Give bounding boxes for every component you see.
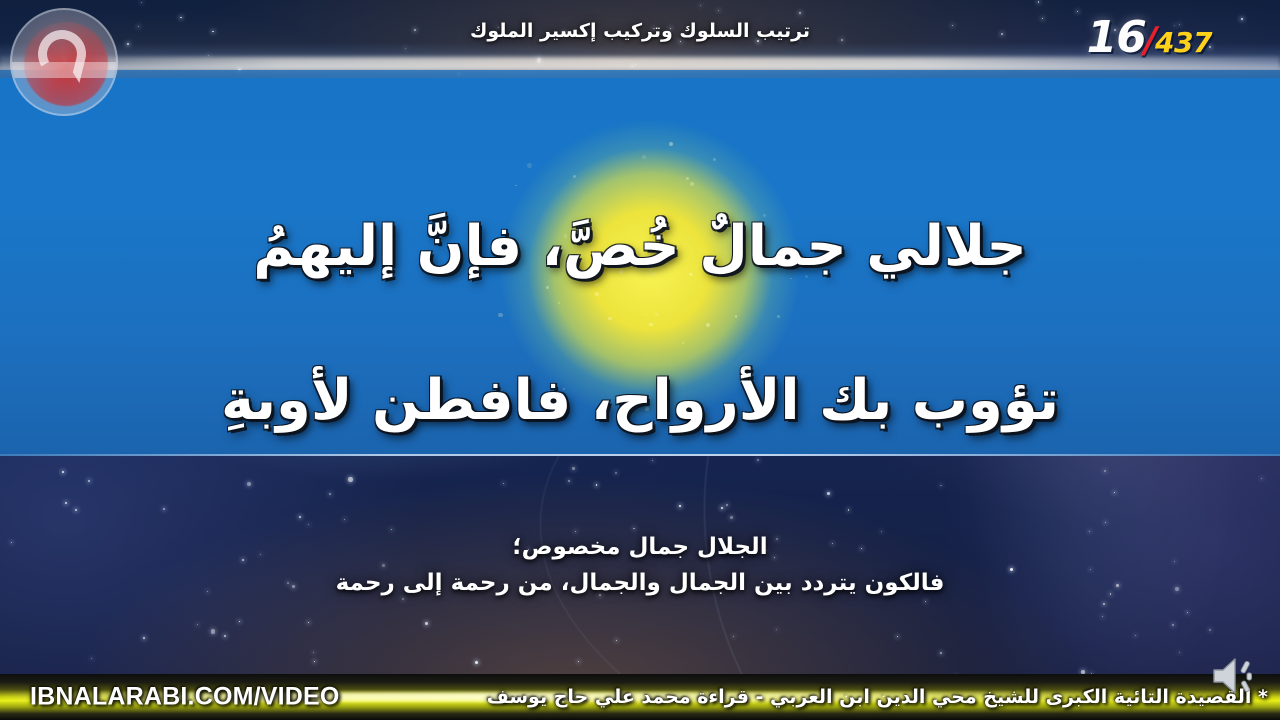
logo-band [10,62,118,78]
verse-panel: جلالي جمالٌ خُصَّ، فإنَّ إليهمُ تؤوب بك … [0,78,1280,456]
verse-line-1: جلالي جمالٌ خُصَّ، فإنَّ إليهمُ [0,216,1280,278]
speaker-volume-icon[interactable] [1208,654,1262,698]
verse-line-2: تؤوب بك الأرواح، فافطن لأوبةِ [0,370,1280,432]
commentary-line-2: فالكون يتردد بين الجمال والجمال، من رحمة… [0,566,1280,602]
footer-bar: IBNALARABI.COM/VIDEO * القصيدة التائية ا… [0,674,1280,720]
commentary-line-1: الجلال جمال مخصوص؛ [0,530,1280,566]
site-logo[interactable] [10,8,118,116]
counter-current: 16 [1087,12,1146,63]
site-url-label[interactable]: IBNALARABI.COM/VIDEO [30,683,340,712]
top-blue-edge [0,70,1280,78]
counter-total: 437 [1155,26,1212,59]
video-slide: جلالي جمالٌ خُصَّ، فإنَّ إليهمُ تؤوب بك … [0,0,1280,720]
commentary-block: الجلال جمال مخصوص؛ فالكون يتردد بين الجم… [0,460,1280,660]
footer-credit: * القصيدة التائية الكبرى للشيخ محي الدين… [487,686,1268,708]
slide-counter: 16/437 [1087,16,1212,60]
